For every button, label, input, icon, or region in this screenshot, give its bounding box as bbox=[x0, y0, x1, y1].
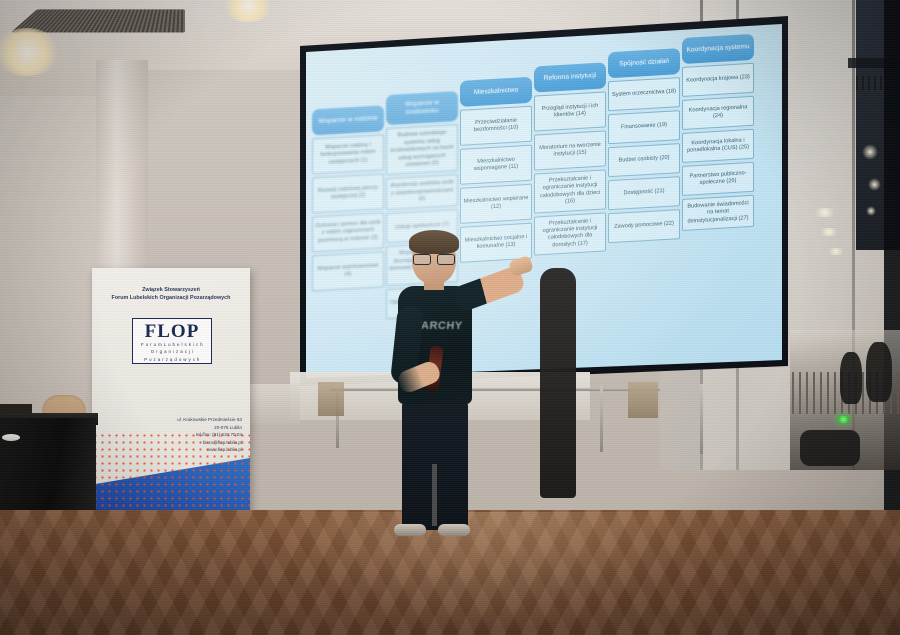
slide-cell: Partnerstwo publiczno-społeczne (26) bbox=[682, 162, 754, 196]
slide-cell: Przeciwdziałanie bezdomności (10) bbox=[460, 106, 532, 146]
slide-column-6: Koordynacja systemuKoordynacja krajowa (… bbox=[682, 34, 754, 231]
rollup-banner: Związek Stowarzyszeń Forum Lubelskich Or… bbox=[92, 268, 250, 528]
slide-cell: Przegląd instytucji i ich klientów (14) bbox=[534, 91, 606, 131]
slide-column-5: Spójność działańSystem orzecznictwa (18)… bbox=[608, 48, 680, 243]
slide-cell: Budżet osobisty (20) bbox=[608, 143, 680, 177]
slide-cell: Dostępność (21) bbox=[608, 176, 680, 210]
slide-cell: Rozwój rodzinnej pieczy zastępczej (2) bbox=[312, 173, 384, 213]
glasses-lens-left bbox=[413, 254, 431, 265]
flop-logo: FLOP F o r u m L u b e l s k i c h O r g… bbox=[132, 318, 212, 364]
glasses-icon bbox=[413, 254, 455, 263]
presenter-leg-gap bbox=[432, 464, 437, 526]
slide-cell: Finansowanie (19) bbox=[608, 110, 680, 144]
railing-post bbox=[600, 386, 603, 452]
seated-person bbox=[840, 352, 862, 404]
banner-org-line1: Związek Stowarzyszeń bbox=[100, 286, 242, 294]
presenter-shoe bbox=[394, 524, 426, 536]
banner-organisation-name: Związek Stowarzyszeń Forum Lubelskich Or… bbox=[100, 286, 242, 302]
flop-logo-sub1: F o r u m L u b e l s k i c h bbox=[135, 342, 209, 348]
banner-address-street: ul. Krakowskie Przedmieście 53 bbox=[122, 416, 242, 424]
presenter-hair bbox=[409, 230, 459, 254]
light-reflection bbox=[868, 178, 881, 191]
glasses-lens-right bbox=[437, 254, 455, 265]
banner-org-line2: Forum Lubelskich Organizacji Pozarządowy… bbox=[100, 294, 242, 302]
equipment-led-indicator bbox=[838, 416, 849, 423]
slide-cell: Koordynacja lokalna i ponadlokalna (CUS)… bbox=[682, 129, 754, 163]
slide-cell: Asystencja osobista osób z niepełnospraw… bbox=[386, 174, 458, 210]
light-reflection bbox=[818, 228, 840, 236]
standing-person-background bbox=[540, 268, 576, 498]
slide-cell: Mieszkalnictwo wspomagane (11) bbox=[460, 145, 532, 185]
light-reflection bbox=[826, 248, 846, 255]
light-reflection bbox=[862, 144, 878, 160]
slide-column-header: Reforma instytucji bbox=[534, 62, 606, 92]
slide-column-4: Reforma instytucjiPrzegląd instytucji i … bbox=[534, 62, 606, 255]
light-reflection bbox=[812, 208, 838, 217]
presenter-shoe bbox=[438, 524, 470, 536]
slide-cell: Koordynacja krajowa (23) bbox=[682, 63, 754, 97]
presenter: ANARCHY bbox=[372, 228, 512, 548]
flop-logo-sub3: P o z a r z ą d o w y c h bbox=[135, 357, 209, 363]
flop-logo-sub2: O r g a n i z a c j i bbox=[135, 349, 209, 355]
flop-logo-wordmark: FLOP bbox=[135, 322, 209, 341]
plate bbox=[2, 434, 20, 441]
slide-cell: Przekształcanie i ograniczanie instytucj… bbox=[534, 212, 606, 256]
slide-cell: Mieszkalnictwo wspierane (12) bbox=[460, 184, 532, 224]
slide-cell: Budowanie świadomości na temat deinstytu… bbox=[682, 195, 754, 231]
slide-column-header: Wsparcie w środowisku bbox=[386, 91, 458, 126]
slide-cell: Przekształcanie i ograniczanie instytucj… bbox=[534, 169, 606, 213]
slide-cell: Wsparcie rodziny i funkcjonowania rodzin… bbox=[312, 134, 384, 174]
slide-cell: Koordynacja regionalna (24) bbox=[682, 96, 754, 130]
slide-column-header: Spójność działań bbox=[608, 48, 680, 78]
slide-column-header: Mieszkalnictwo bbox=[460, 77, 532, 107]
slide-cell: Budowa szerokiego systemu usług środowis… bbox=[386, 124, 458, 175]
light-reflection bbox=[866, 206, 876, 216]
slide-column-header: Koordynacja systemu bbox=[682, 34, 754, 64]
railing-post bbox=[700, 384, 703, 454]
seated-person bbox=[866, 342, 892, 402]
slide-column-header: Wsparcie w rodzinie bbox=[312, 105, 384, 135]
slide-cell: System orzecznictwa (18) bbox=[608, 77, 680, 111]
banner-address-city: 20-076 Lublin bbox=[122, 424, 242, 432]
presentation-photo: Wsparcie w rodzinieWsparcie rodziny i fu… bbox=[0, 0, 900, 635]
slide-cell: Zawody pomocowe (22) bbox=[608, 209, 680, 243]
background-chair bbox=[628, 382, 658, 418]
equipment-bag bbox=[800, 430, 860, 466]
slide-cell: Moratorium na tworzenie instytucji (15) bbox=[534, 130, 606, 170]
background-chair bbox=[318, 382, 344, 416]
